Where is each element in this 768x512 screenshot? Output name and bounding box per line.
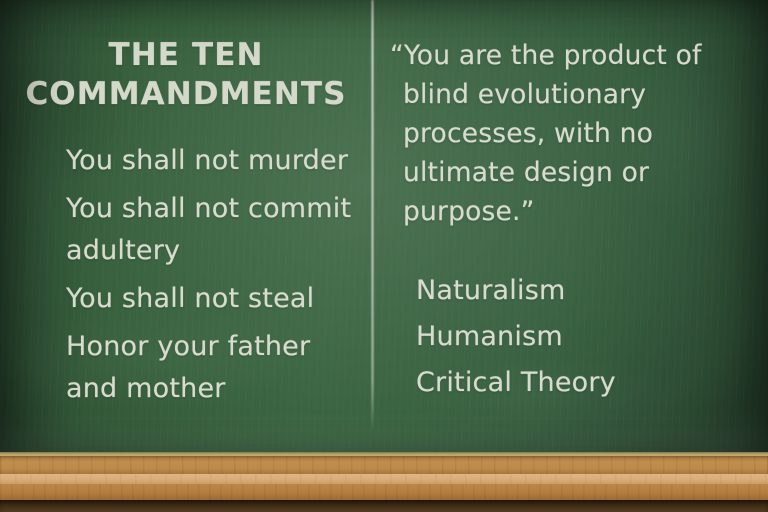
list-item: Humanism [416, 314, 736, 360]
tray-front-face [0, 484, 768, 500]
chalk-tray [0, 452, 768, 512]
tray-front-edge [0, 474, 768, 484]
right-column: “You are the product of blind evolutiona… [374, 0, 768, 458]
worldviews-list: Naturalism Humanism Critical Theory [416, 268, 736, 406]
chalkboard-scene: THE TEN COMMANDMENTS You shall not murde… [0, 0, 768, 512]
worldview-quote: “You are the product of blind evolutiona… [403, 36, 743, 231]
list-item: Honor your father and mother [66, 326, 366, 410]
commandments-list: You shall not murder You shall not commi… [66, 140, 366, 410]
list-item: You shall not murder [66, 140, 366, 182]
left-column: THE TEN COMMANDMENTS You shall not murde… [0, 0, 371, 458]
chalkboard-surface: THE TEN COMMANDMENTS You shall not murde… [0, 0, 768, 458]
list-item: You shall not commit adultery [66, 188, 366, 272]
tray-drop-shadow [0, 500, 768, 512]
left-column-title: THE TEN COMMANDMENTS [18, 36, 354, 114]
list-item: Critical Theory [416, 360, 736, 406]
tray-top-face [0, 456, 768, 474]
list-item: You shall not steal [66, 278, 366, 320]
list-item: Naturalism [416, 268, 736, 314]
